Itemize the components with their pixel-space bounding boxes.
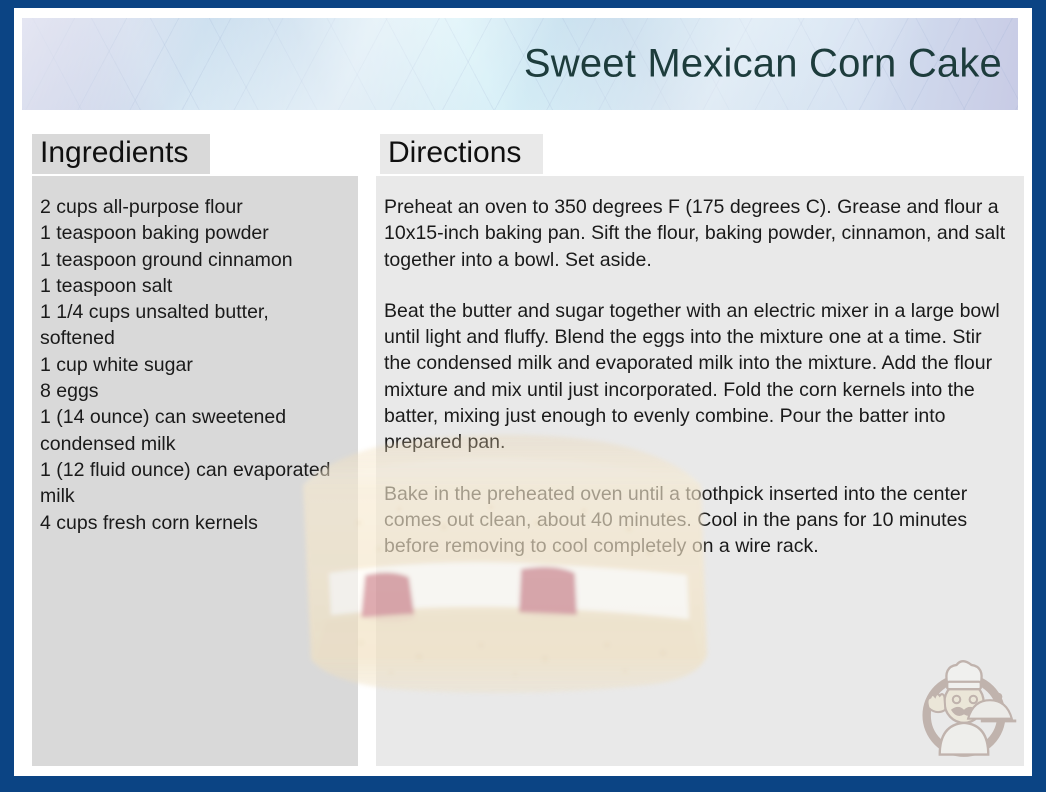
page-title: Sweet Mexican Corn Cake [524, 42, 1002, 87]
ingredient-item: 1 teaspoon salt [40, 273, 348, 299]
recipe-card-page: Sweet Mexican Corn Cake Ingredients Dire… [0, 0, 1046, 792]
ingredient-item: 1 teaspoon baking powder [40, 220, 348, 246]
ingredient-item: 1 (12 fluid ounce) can evaporated milk [40, 457, 348, 510]
ingredient-list: 2 cups all-purpose flour1 teaspoon bakin… [40, 194, 348, 536]
ingredient-item: 1 1/4 cups unsalted butter, softened [40, 299, 348, 352]
section-heading-ingredients: Ingredients [32, 134, 210, 174]
ingredient-item: 2 cups all-purpose flour [40, 194, 348, 220]
direction-paragraph: Preheat an oven to 350 degrees F (175 de… [384, 194, 1010, 273]
directions-panel: Preheat an oven to 350 degrees F (175 de… [376, 176, 1024, 766]
title-banner: Sweet Mexican Corn Cake [22, 18, 1018, 110]
ingredient-item: 4 cups fresh corn kernels [40, 510, 348, 536]
ingredient-item: 1 teaspoon ground cinnamon [40, 247, 348, 273]
ingredient-item: 1 (14 ounce) can sweetened condensed mil… [40, 404, 348, 457]
section-heading-directions: Directions [380, 134, 543, 174]
ingredient-item: 1 cup white sugar [40, 352, 348, 378]
direction-paragraph: Beat the butter and sugar together with … [384, 298, 1010, 456]
directions-body: Preheat an oven to 350 degrees F (175 de… [384, 194, 1010, 560]
ingredients-panel: 2 cups all-purpose flour1 teaspoon bakin… [32, 176, 358, 766]
ingredient-item: 8 eggs [40, 378, 348, 404]
recipe-card-body: Sweet Mexican Corn Cake Ingredients Dire… [14, 8, 1032, 776]
direction-paragraph: Bake in the preheated oven until a tooth… [384, 481, 1010, 560]
